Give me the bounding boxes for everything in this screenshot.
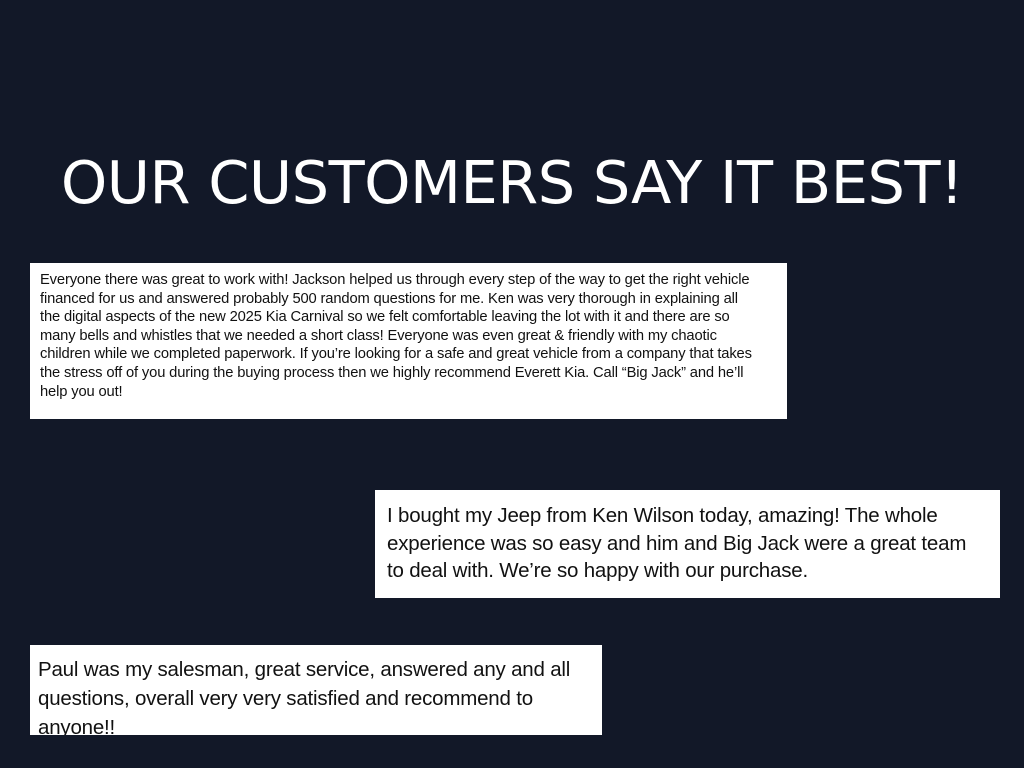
testimonial-text: Everyone there was great to work with! J… <box>40 271 755 401</box>
testimonial-card-jackson-ken: Everyone there was great to work with! J… <box>30 263 787 419</box>
testimonial-card-ken-wilson-jeep: I bought my Jeep from Ken Wilson today, … <box>375 490 1000 598</box>
testimonial-slide: OUR CUSTOMERS SAY IT BEST! Everyone ther… <box>0 0 1024 768</box>
testimonial-card-paul-salesman: Paul was my salesman, great service, ans… <box>30 645 602 735</box>
testimonial-text: I bought my Jeep from Ken Wilson today, … <box>387 502 986 585</box>
testimonial-text: Paul was my salesman, great service, ans… <box>38 655 590 735</box>
page-title: OUR CUSTOMERS SAY IT BEST! <box>0 148 1024 218</box>
